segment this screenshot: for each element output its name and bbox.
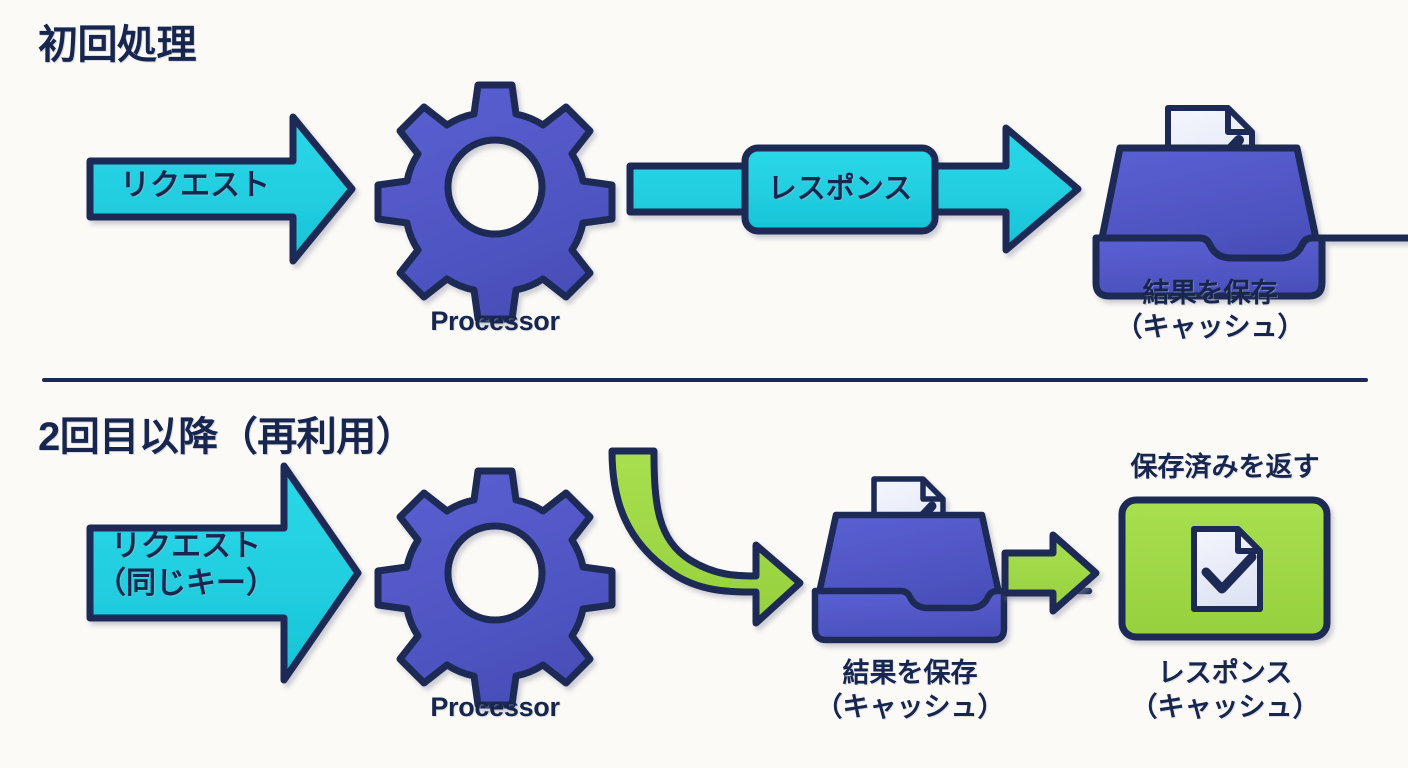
processor-label-bottom: Processor xyxy=(395,692,595,724)
cached-response-label-line2: （キャッシュ） xyxy=(1104,692,1346,724)
request-arrow-bottom-label-line1: リクエスト xyxy=(96,529,276,564)
cache-tray-top-label-line1: 結果を保存 xyxy=(1090,278,1330,310)
curved-arrow-icon xyxy=(612,451,800,623)
cached-response-card xyxy=(1122,500,1327,637)
cached-response-label-line1: レスポンス xyxy=(1104,658,1346,690)
diagram-canvas: 初回処理 2回目以降（再利用） xyxy=(0,0,1408,768)
cached-response-heading: 保存済みを返す xyxy=(1104,452,1346,484)
cache-tray-top-label-line2: （キャッシュ） xyxy=(1090,312,1330,344)
cache-tray-bottom-label-line1: 結果を保存 xyxy=(790,658,1030,690)
gear-icon-bottom xyxy=(378,471,612,705)
request-arrow-top-label: リクエスト xyxy=(100,168,290,203)
gear-icon-top xyxy=(378,85,612,319)
cache-tray-bottom-label-line2: （キャッシュ） xyxy=(790,692,1030,724)
diagram-vector-layer xyxy=(0,0,1408,768)
inbox-tray-icon-top xyxy=(1096,108,1408,296)
request-arrow-bottom-label-line2: （同じキー） xyxy=(96,566,276,601)
response-arrow-top-label: レスポンス xyxy=(748,172,932,206)
arrow-right-icon-small xyxy=(1005,535,1096,611)
processor-label-top: Processor xyxy=(395,306,595,338)
